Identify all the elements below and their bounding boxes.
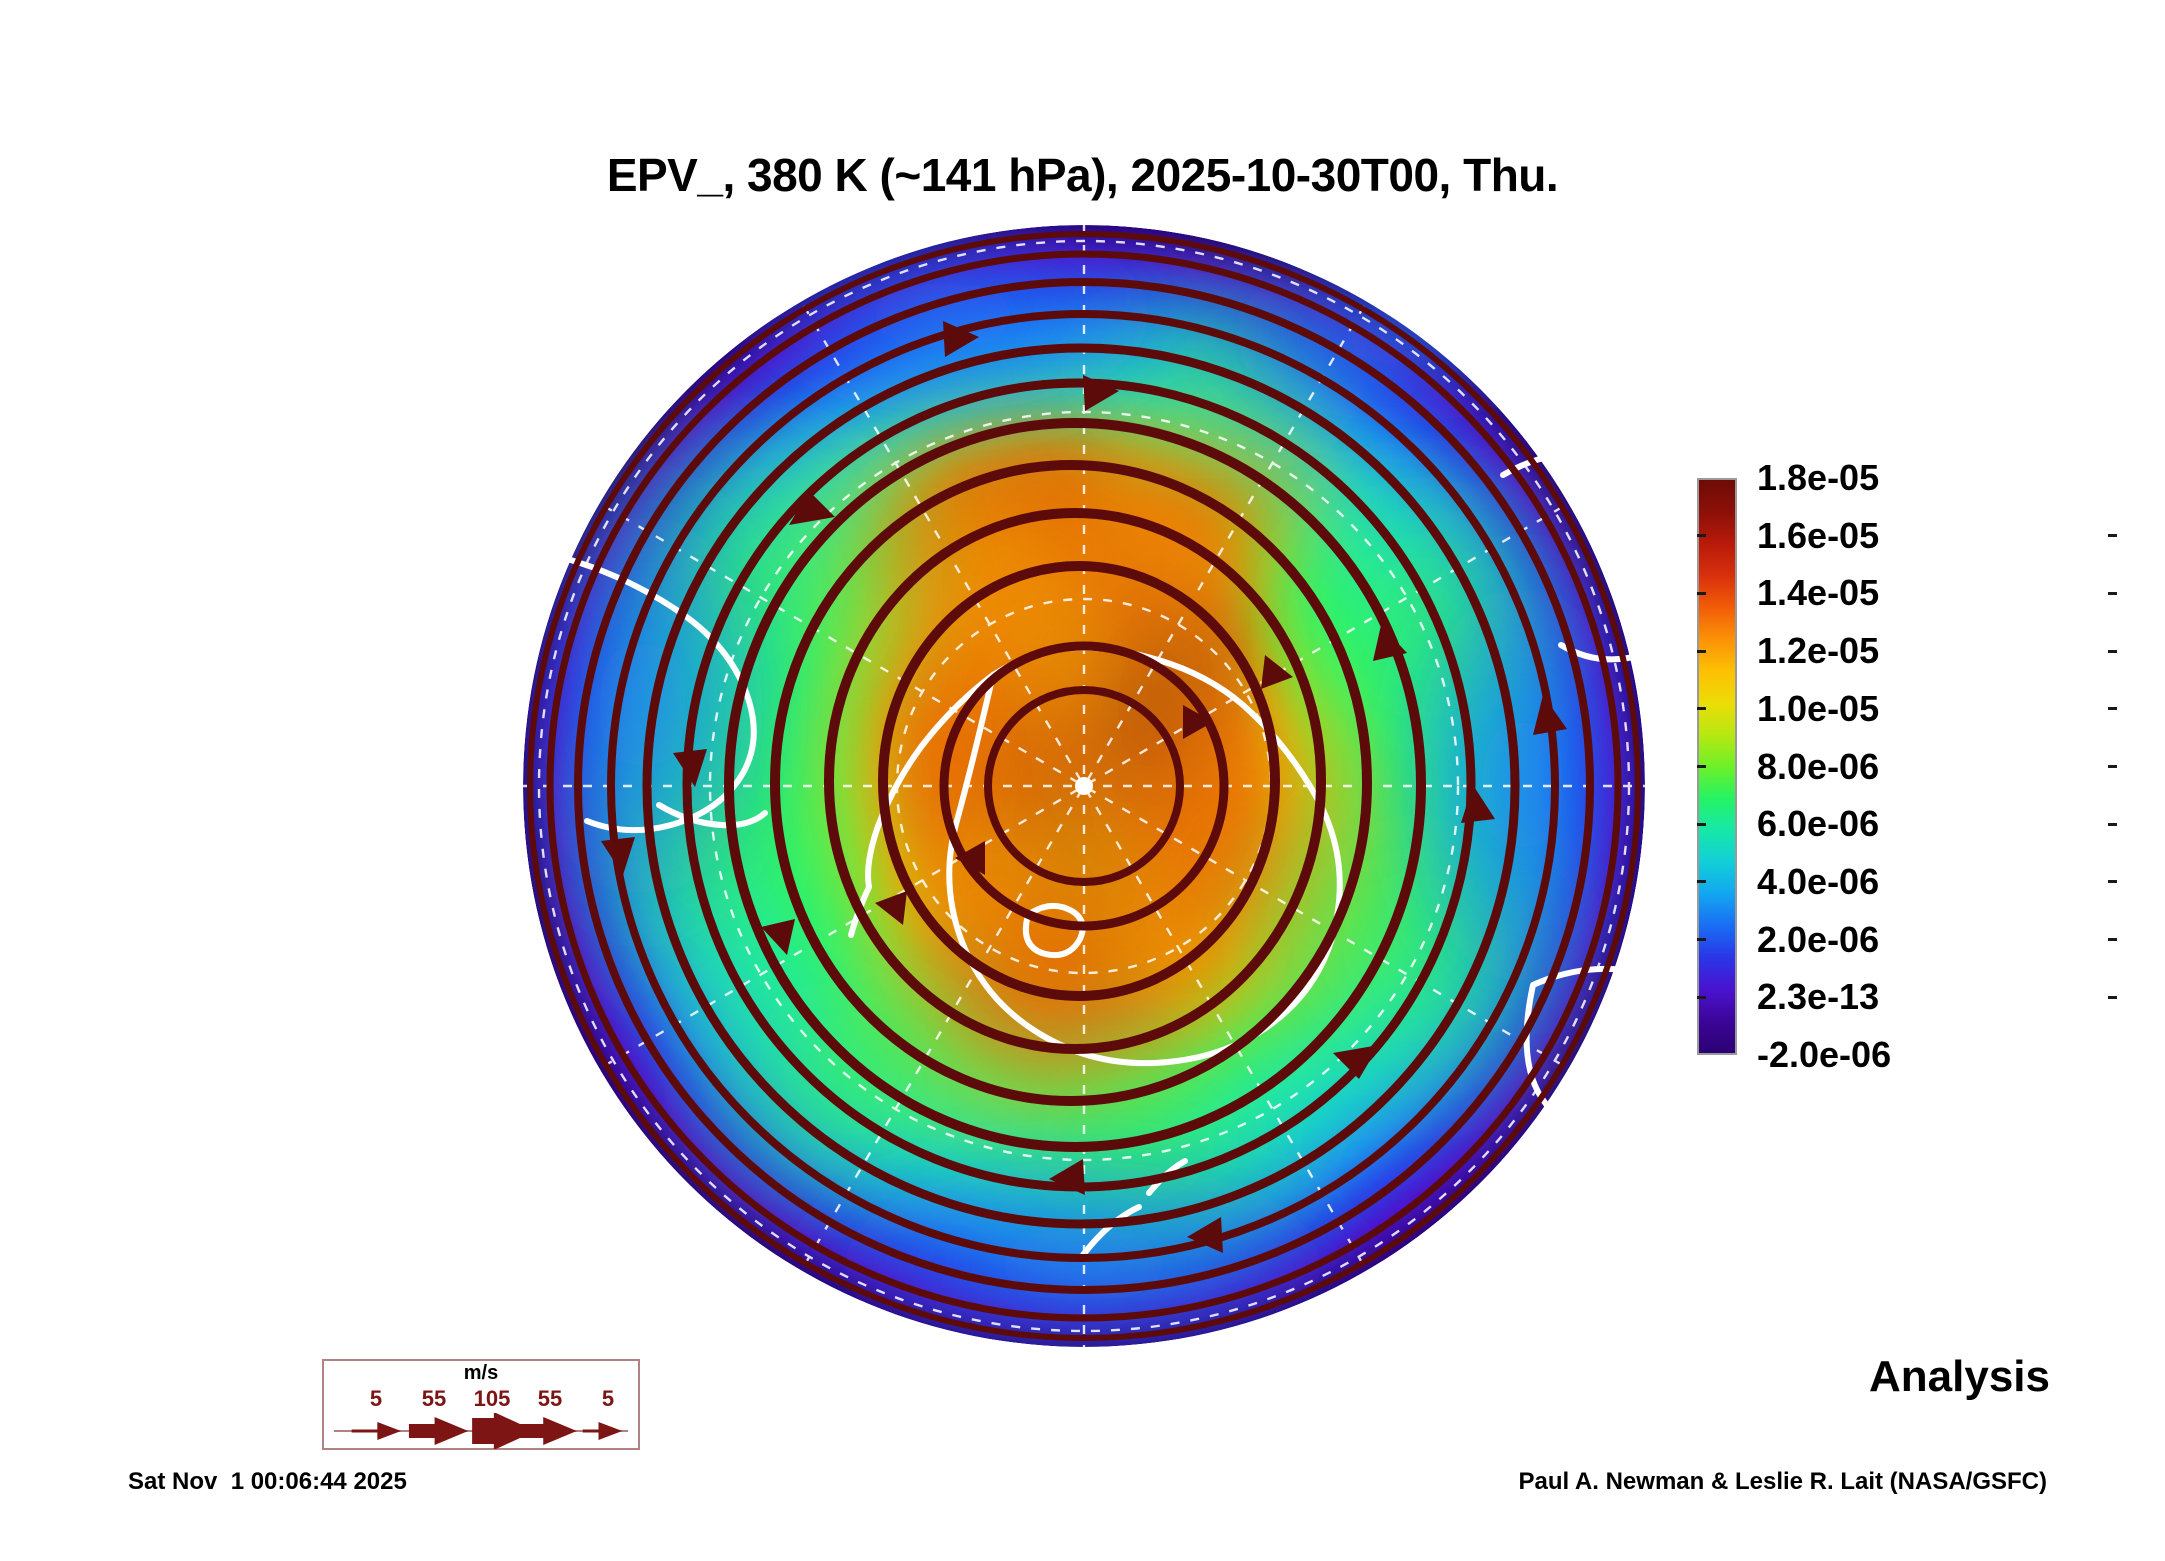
colorbar-tick — [2108, 650, 2117, 653]
colorbar-tick — [1697, 592, 1706, 595]
colorbar-tick-label: 2.0e-06 — [1757, 919, 1879, 961]
colorbar-tick-label: 4.0e-06 — [1757, 861, 1879, 903]
colorbar-tick-label: 6.0e-06 — [1757, 803, 1879, 845]
wind-speed-legend: m/s 555105555 — [322, 1359, 640, 1450]
page-title: EPV_, 380 K (~141 hPa), 2025-10-30T00, T… — [0, 148, 2165, 202]
colorbar-tick — [1697, 938, 1706, 941]
wind-legend-value: 55 — [538, 1386, 562, 1412]
wind-legend-arrows — [324, 1413, 638, 1449]
colorbar-tick — [2108, 880, 2117, 883]
analysis-label: Analysis — [1869, 1352, 2050, 1402]
colorbar-tick-label: 8.0e-06 — [1757, 746, 1879, 788]
colorbar-tick — [2108, 592, 2117, 595]
south-pole-marker — [1075, 777, 1093, 795]
colorbar-tick — [2108, 765, 2117, 768]
figure-canvas: EPV_, 380 K (~141 hPa), 2025-10-30T00, T… — [0, 0, 2165, 1561]
colorbar-group: 1.8e-051.6e-051.4e-051.2e-051.0e-058.0e-… — [1697, 470, 2117, 1070]
colorbar-tick — [1697, 823, 1706, 826]
colorbar-tick — [2108, 823, 2117, 826]
colorbar-tick-label: 2.3e-13 — [1757, 976, 1879, 1018]
epv-field — [523, 225, 1645, 1347]
colorbar-tick — [1697, 765, 1706, 768]
colorbar-tick-label: 1.8e-05 — [1757, 457, 1879, 499]
colorbar-tick — [1697, 534, 1706, 537]
globe-disc — [523, 225, 1645, 1347]
colorbar-tick — [2108, 996, 2117, 999]
colorbar-tick-label: 1.0e-05 — [1757, 688, 1879, 730]
polar-map — [523, 225, 1645, 1347]
colorbar-tick — [2108, 534, 2117, 537]
colorbar-tick-label: -2.0e-06 — [1757, 1034, 1891, 1076]
colorbar-tick — [2108, 707, 2117, 710]
colorbar-tick — [1697, 707, 1706, 710]
colorbar-tick-label: 1.4e-05 — [1757, 572, 1879, 614]
wind-legend-value: 5 — [602, 1386, 614, 1412]
colorbar-tick — [2108, 938, 2117, 941]
wind-legend-value: 105 — [474, 1386, 511, 1412]
wind-legend-value: 5 — [370, 1386, 382, 1412]
author-credit: Paul A. Newman & Leslie R. Lait (NASA/GS… — [1518, 1468, 2047, 1496]
colorbar-tick-label: 1.2e-05 — [1757, 630, 1879, 672]
colorbar-tick — [1697, 880, 1706, 883]
wind-legend-unit: m/s — [324, 1362, 638, 1385]
render-timestamp: Sat Nov 1 00:06:44 2025 — [128, 1468, 407, 1496]
colorbar-tick-label: 1.6e-05 — [1757, 515, 1879, 557]
colorbar-tick — [1697, 996, 1706, 999]
colorbar-tick — [1697, 650, 1706, 653]
wind-legend-value: 55 — [422, 1386, 446, 1412]
